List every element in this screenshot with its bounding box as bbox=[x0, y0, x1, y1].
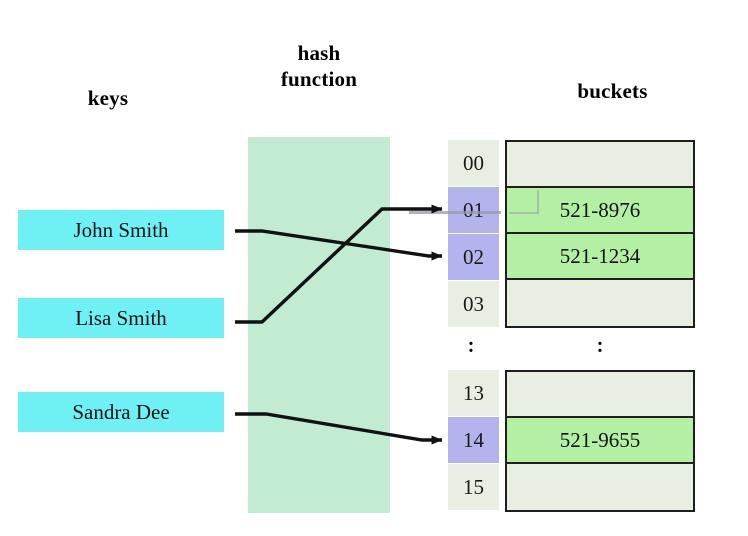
hash-table-diagram: keys hash function buckets John Smith Li… bbox=[0, 0, 748, 536]
connector-lisa-smith-to-01 bbox=[235, 209, 442, 322]
connector-sandra-dee-to-14 bbox=[235, 414, 442, 440]
key-to-bucket-connectors bbox=[0, 0, 748, 536]
